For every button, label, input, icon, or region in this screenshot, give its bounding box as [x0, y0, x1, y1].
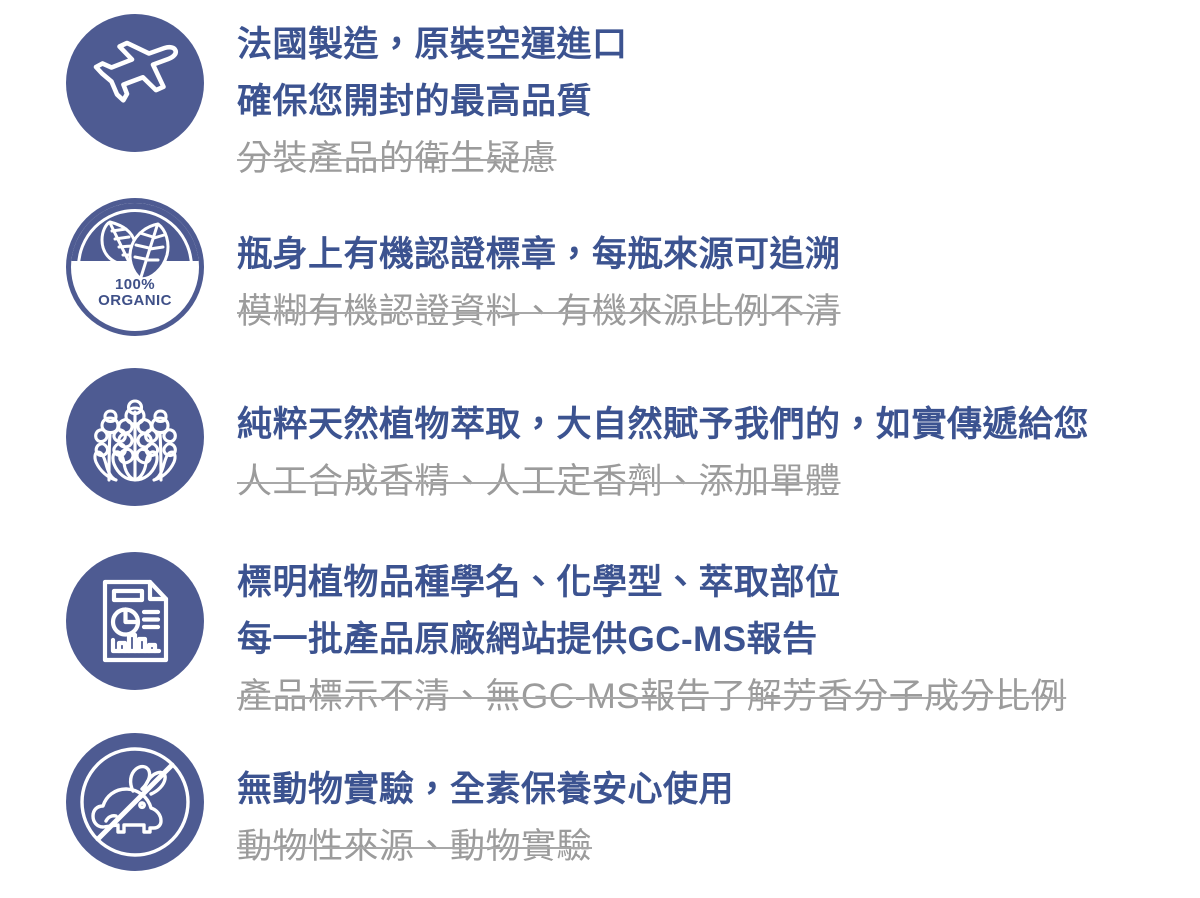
badge-word-text: ORGANIC [71, 293, 199, 309]
feature-row: 無動物實驗，全素保養安心使用 動物性來源、動物實驗 [0, 733, 734, 875]
feature-icon-wrap: 100% ORGANIC [66, 198, 204, 336]
feature-subline: 分裝產品的衛生疑慮 [237, 130, 628, 187]
feature-text-block: 瓶身上有機認證標章，每瓶來源可追溯 模糊有機認證資料、有機來源比例不清 [237, 224, 841, 340]
feature-headline: 純粹天然植物萃取，大自然賦予我們的，如實傳遞給您 [237, 396, 1089, 453]
feature-icon-wrap [66, 368, 204, 506]
feature-subline: 人工合成香精、人工定香劑、添加單體 [237, 453, 1089, 510]
report-document-icon [66, 552, 204, 690]
feature-headline: 法國製造，原裝空運進口 [237, 16, 628, 73]
feature-subline: 產品標示不清、無GC-MS報告了解芳香分子成分比例 [237, 668, 1066, 725]
feature-headline: 每一批產品原廠網站提供GC-MS報告 [237, 611, 1066, 668]
feature-icon-wrap [66, 14, 204, 152]
feature-icon-wrap [66, 733, 204, 871]
feature-row: 100% ORGANIC 瓶身上有機認證標章，每瓶來源可追溯 模糊有機認證資料、… [0, 198, 841, 340]
airplane-icon [66, 14, 204, 152]
feature-list-board: 法國製造，原裝空運進口 確保您開封的最高品質 分裝產品的衛生疑慮 [0, 0, 1200, 898]
feature-headline: 瓶身上有機認證標章，每瓶來源可追溯 [237, 226, 841, 283]
feature-row: 法國製造，原裝空運進口 確保您開封的最高品質 分裝產品的衛生疑慮 [0, 14, 628, 187]
feature-headline: 標明植物品種學名、化學型、萃取部位 [237, 554, 1066, 611]
feature-text-block: 標明植物品種學名、化學型、萃取部位 每一批產品原廠網站提供GC-MS報告 產品標… [237, 552, 1066, 725]
feature-headline: 無動物實驗，全素保養安心使用 [237, 761, 734, 818]
feature-icon-wrap [66, 552, 204, 690]
badge-percent-text: 100% [71, 277, 199, 293]
feature-subline: 動物性來源、動物實驗 [237, 818, 734, 875]
feature-text-block: 法國製造，原裝空運進口 確保您開封的最高品質 分裝產品的衛生疑慮 [237, 14, 628, 187]
feature-text-block: 純粹天然植物萃取，大自然賦予我們的，如實傳遞給您 人工合成香精、人工定香劑、添加… [237, 394, 1089, 510]
lavender-icon [66, 368, 204, 506]
feature-row: 標明植物品種學名、化學型、萃取部位 每一批產品原廠網站提供GC-MS報告 產品標… [0, 552, 1066, 725]
feature-row: 純粹天然植物萃取，大自然賦予我們的，如實傳遞給您 人工合成香精、人工定香劑、添加… [0, 368, 1089, 510]
leaf-icon [96, 217, 174, 283]
badge-label: 100% ORGANIC [71, 277, 199, 309]
no-animal-testing-icon [66, 733, 204, 871]
feature-headline: 確保您開封的最高品質 [237, 73, 628, 130]
feature-subline: 模糊有機認證資料、有機來源比例不清 [237, 283, 841, 340]
feature-text-block: 無動物實驗，全素保養安心使用 動物性來源、動物實驗 [237, 759, 734, 875]
organic-badge-icon: 100% ORGANIC [66, 198, 204, 336]
